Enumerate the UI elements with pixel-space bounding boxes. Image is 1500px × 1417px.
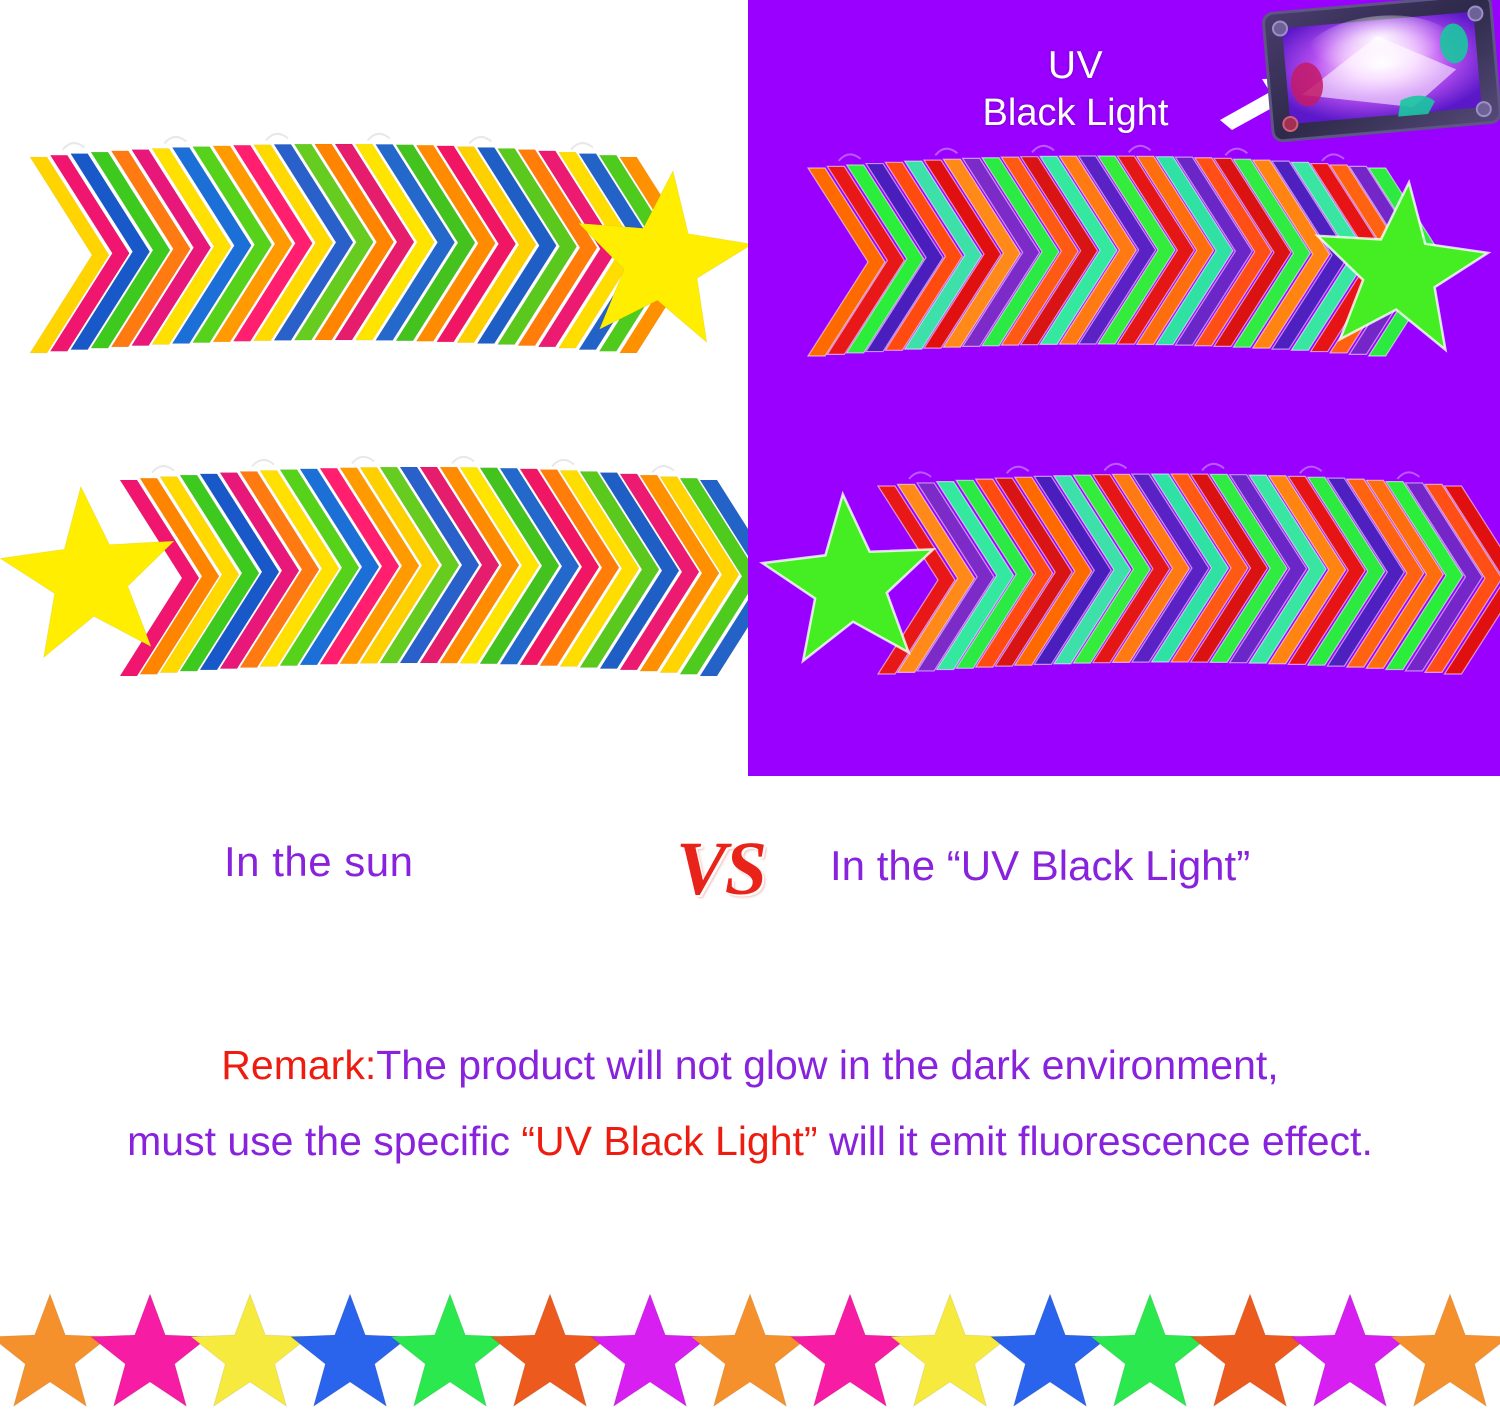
remark-line2-highlight: “UV Black Light” xyxy=(521,1118,817,1164)
remark-line2-part1: must use the specific xyxy=(127,1118,521,1164)
remark-line-1: Remark:The product will not glow in the … xyxy=(0,1028,1500,1104)
in-the-sun-photo xyxy=(0,0,748,790)
caption-in-the-sun: In the sun xyxy=(224,838,413,886)
remark-text-block: Remark:The product will not glow in the … xyxy=(0,1028,1500,1180)
comparison-caption-row: In the sun VS In the “UV Black Light” xyxy=(0,820,1500,930)
photo-comparison-area: UV Black Light xyxy=(0,0,1500,790)
uv-floodlight-image xyxy=(1260,0,1500,142)
sun-garland-bottom xyxy=(0,0,748,790)
uv-black-light-photo: UV Black Light xyxy=(748,0,1500,776)
uv-label-line2: Black Light xyxy=(948,90,1203,136)
uv-black-light-label: UV Black Light xyxy=(948,42,1203,136)
caption-vs: VS xyxy=(676,826,765,913)
remark-line-2: must use the specific “UV Black Light” w… xyxy=(0,1104,1500,1180)
caption-in-the-uv-black-light: In the “UV Black Light” xyxy=(830,842,1250,890)
remark-line1-rest: The product will not glow in the dark en… xyxy=(376,1042,1278,1088)
remark-prefix: Remark: xyxy=(221,1042,376,1088)
product-infographic: UV Black Light xyxy=(0,0,1500,1417)
decorative-star-row xyxy=(0,1288,1500,1417)
uv-label-line1: UV xyxy=(948,42,1203,90)
remark-line2-part2: will it emit fluorescence effect. xyxy=(818,1118,1373,1164)
